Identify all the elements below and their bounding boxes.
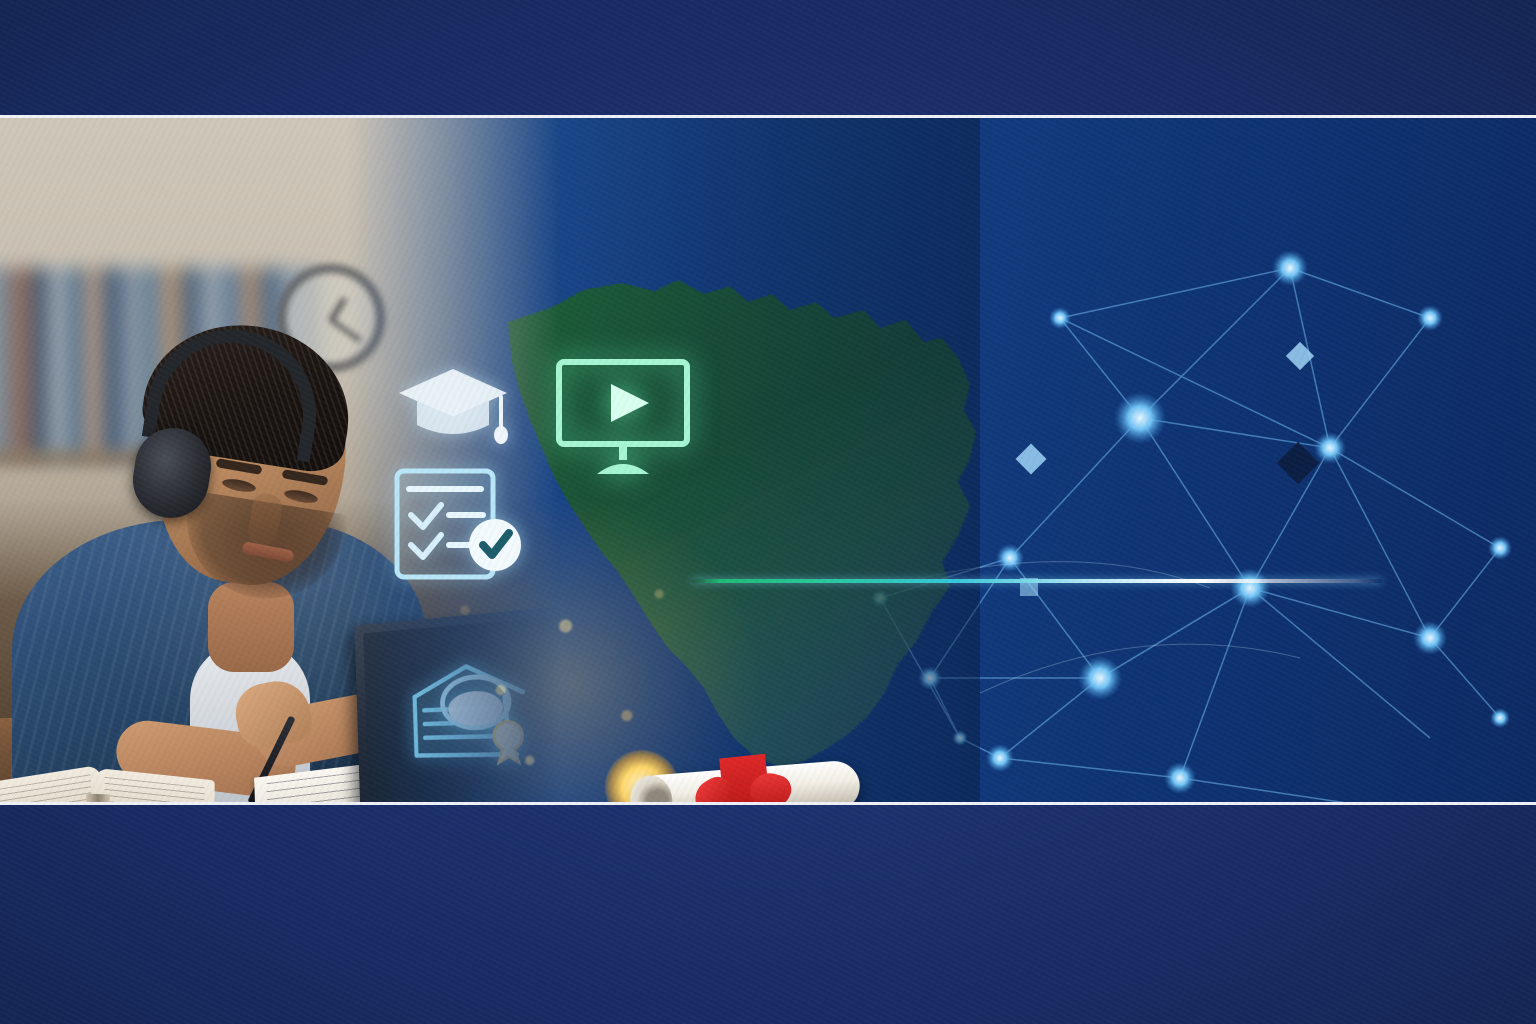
checklist-check-icon	[391, 463, 539, 583]
laptop-diploma-icon	[399, 645, 549, 772]
title-divider	[692, 579, 1382, 583]
laptop-icon	[318, 616, 560, 805]
video-monitor-icon	[553, 356, 693, 480]
red-ribbon-icon	[719, 754, 773, 805]
student-photo	[0, 118, 560, 805]
article-hero-banner	[0, 115, 1536, 805]
graduation-cap-icon	[393, 361, 513, 451]
page-root	[0, 0, 1536, 1024]
open-book-icon	[0, 756, 217, 805]
